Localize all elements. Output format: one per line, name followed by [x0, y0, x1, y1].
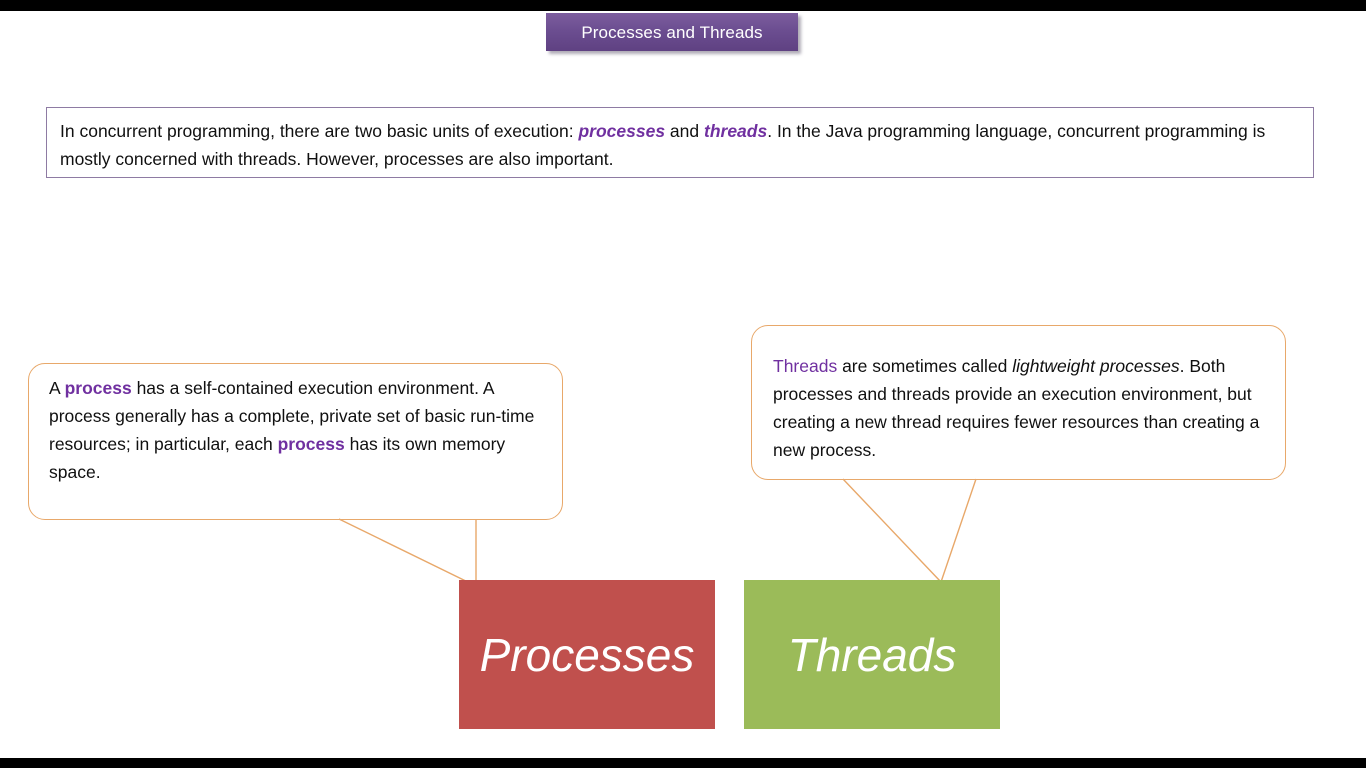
concept-box-threads-label: Threads: [788, 632, 957, 678]
slide-title-banner: Processes and Threads: [546, 13, 798, 51]
callout-tail-process: [339, 519, 476, 586]
concept-box-threads[interactable]: Threads: [744, 580, 1000, 729]
callout-bubble-thread: Threads are sometimes called lightweight…: [751, 325, 1286, 480]
concept-box-processes-label: Processes: [480, 632, 695, 678]
intro-text-box: In concurrent programming, there are two…: [46, 107, 1314, 178]
callout-thread-text: Threads are sometimes called lightweight…: [773, 352, 1273, 464]
callout-tail-thread: [843, 479, 976, 582]
slide-title-text: Processes and Threads: [581, 24, 762, 41]
concept-box-processes[interactable]: Processes: [459, 580, 715, 729]
intro-paragraph: In concurrent programming, there are two…: [60, 117, 1300, 173]
callout-bubble-process: A process has a self-contained execution…: [28, 363, 563, 520]
callout-process-text: A process has a self-contained execution…: [49, 374, 549, 486]
letterbox-bar-top: [0, 0, 1366, 11]
letterbox-bar-bottom: [0, 758, 1366, 768]
